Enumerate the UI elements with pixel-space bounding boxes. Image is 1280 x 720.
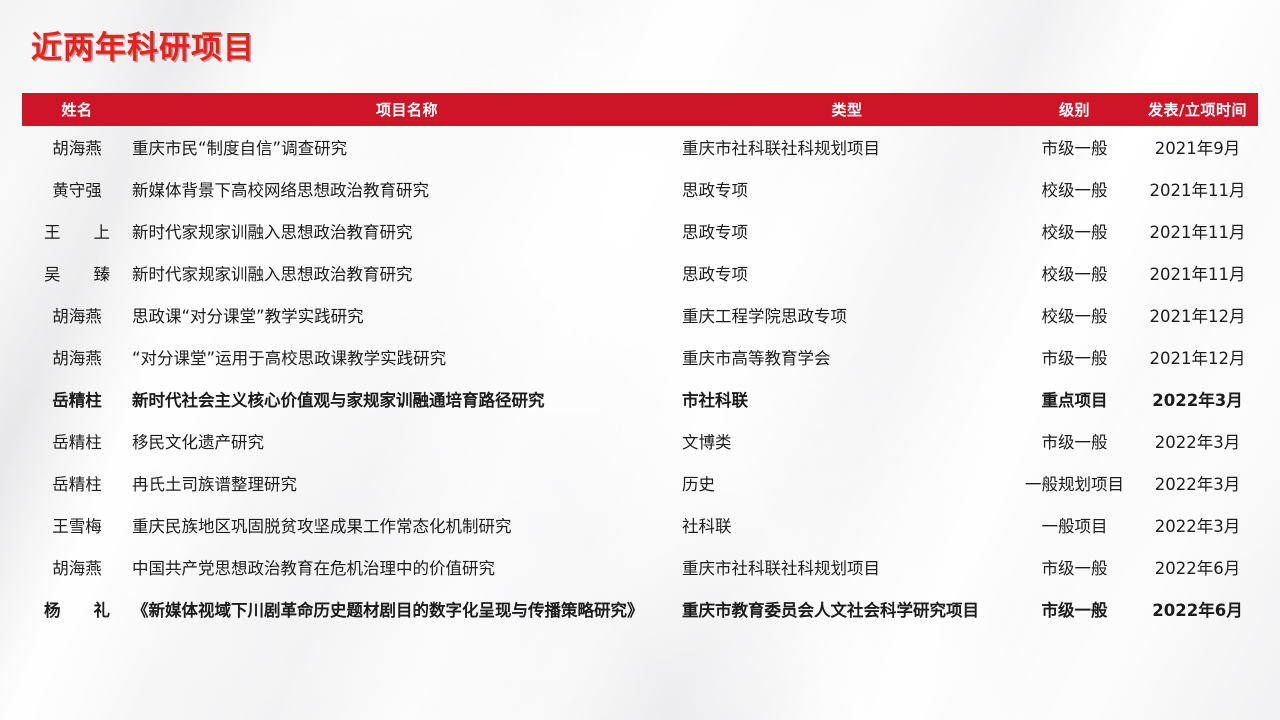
cell-project: 新时代家规家训融入思想政治教育研究 bbox=[132, 252, 682, 294]
page-title: 近两年科研项目 bbox=[31, 22, 255, 67]
cell-project: 重庆市民“制度自信”调查研究 bbox=[132, 126, 682, 168]
table-row: 王雪梅重庆民族地区巩固脱贫攻坚成果工作常态化机制研究社科联一般项目2022年3月 bbox=[22, 504, 1258, 546]
cell-date: 2021年11月 bbox=[1137, 168, 1258, 210]
cell-date: 2021年11月 bbox=[1137, 210, 1258, 252]
table-row: 胡海燕中国共产党思想政治教育在危机治理中的价值研究重庆市社科联社科规划项目市级一… bbox=[22, 546, 1258, 588]
cell-type: 重庆市高等教育学会 bbox=[682, 336, 1012, 378]
cell-project: 新媒体背景下高校网络思想政治教育研究 bbox=[132, 168, 682, 210]
cell-date: 2022年6月 bbox=[1137, 546, 1258, 588]
cell-level: 市级一般 bbox=[1012, 420, 1137, 462]
table-row: 岳精柱冉氏土司族谱整理研究历史一般规划项目2022年3月 bbox=[22, 462, 1258, 504]
table-row: 王 上新时代家规家训融入思想政治教育研究思政专项校级一般2021年11月 bbox=[22, 210, 1258, 252]
table-header-row: 姓名 项目名称 类型 级别 发表/立项时间 bbox=[22, 93, 1258, 126]
cell-name: 岳精柱 bbox=[22, 462, 132, 504]
table-row: 杨 礼《新媒体视域下川剧革命历史题材剧目的数字化呈现与传播策略研究》重庆市教育委… bbox=[22, 588, 1258, 630]
cell-name: 王 上 bbox=[22, 210, 132, 252]
cell-project: 中国共产党思想政治教育在危机治理中的价值研究 bbox=[132, 546, 682, 588]
cell-level: 一般项目 bbox=[1012, 504, 1137, 546]
cell-level: 校级一般 bbox=[1012, 210, 1137, 252]
column-header-project: 项目名称 bbox=[132, 93, 682, 126]
table-row: 吴 臻新时代家规家训融入思想政治教育研究思政专项校级一般2021年11月 bbox=[22, 252, 1258, 294]
cell-date: 2022年3月 bbox=[1137, 420, 1258, 462]
cell-type: 思政专项 bbox=[682, 252, 1012, 294]
cell-date: 2021年12月 bbox=[1137, 336, 1258, 378]
cell-date: 2022年3月 bbox=[1137, 378, 1258, 420]
table-row: 胡海燕重庆市民“制度自信”调查研究重庆市社科联社科规划项目市级一般2021年9月 bbox=[22, 126, 1258, 168]
cell-level: 市级一般 bbox=[1012, 588, 1137, 630]
table-row: 胡海燕思政课“对分课堂”教学实践研究重庆工程学院思政专项校级一般2021年12月 bbox=[22, 294, 1258, 336]
cell-type: 重庆市社科联社科规划项目 bbox=[682, 546, 1012, 588]
column-header-name: 姓名 bbox=[22, 93, 132, 126]
cell-name: 岳精柱 bbox=[22, 420, 132, 462]
cell-date: 2022年3月 bbox=[1137, 462, 1258, 504]
cell-project: 重庆民族地区巩固脱贫攻坚成果工作常态化机制研究 bbox=[132, 504, 682, 546]
cell-type: 思政专项 bbox=[682, 168, 1012, 210]
column-header-level: 级别 bbox=[1012, 93, 1137, 126]
cell-date: 2021年12月 bbox=[1137, 294, 1258, 336]
slide-canvas: 近两年科研项目 姓名 项目名称 类型 级别 发表/立项时间 胡海燕重庆市民“制度… bbox=[0, 0, 1280, 720]
column-header-date: 发表/立项时间 bbox=[1137, 93, 1258, 126]
research-projects-table: 姓名 项目名称 类型 级别 发表/立项时间 胡海燕重庆市民“制度自信”调查研究重… bbox=[22, 93, 1258, 630]
cell-project: 新时代家规家训融入思想政治教育研究 bbox=[132, 210, 682, 252]
cell-name: 吴 臻 bbox=[22, 252, 132, 294]
table-row: 岳精柱新时代社会主义核心价值观与家规家训融通培育路径研究市社科联重点项目2022… bbox=[22, 378, 1258, 420]
research-projects-table-container: 姓名 项目名称 类型 级别 发表/立项时间 胡海燕重庆市民“制度自信”调查研究重… bbox=[22, 93, 1258, 630]
cell-level: 市级一般 bbox=[1012, 126, 1137, 168]
cell-type: 社科联 bbox=[682, 504, 1012, 546]
cell-project: 思政课“对分课堂”教学实践研究 bbox=[132, 294, 682, 336]
cell-project: “对分课堂”运用于高校思政课教学实践研究 bbox=[132, 336, 682, 378]
cell-level: 校级一般 bbox=[1012, 252, 1137, 294]
cell-name: 胡海燕 bbox=[22, 126, 132, 168]
cell-level: 校级一般 bbox=[1012, 294, 1137, 336]
cell-level: 市级一般 bbox=[1012, 546, 1137, 588]
cell-date: 2021年11月 bbox=[1137, 252, 1258, 294]
cell-level: 校级一般 bbox=[1012, 168, 1137, 210]
cell-level: 重点项目 bbox=[1012, 378, 1137, 420]
table-header: 姓名 项目名称 类型 级别 发表/立项时间 bbox=[22, 93, 1258, 126]
cell-project: 冉氏土司族谱整理研究 bbox=[132, 462, 682, 504]
table-row: 岳精柱移民文化遗产研究文博类市级一般2022年3月 bbox=[22, 420, 1258, 462]
cell-project: 《新媒体视域下川剧革命历史题材剧目的数字化呈现与传播策略研究》 bbox=[132, 588, 682, 630]
column-header-type: 类型 bbox=[682, 93, 1012, 126]
cell-type: 思政专项 bbox=[682, 210, 1012, 252]
cell-project: 移民文化遗产研究 bbox=[132, 420, 682, 462]
cell-type: 重庆市教育委员会人文社会科学研究项目 bbox=[682, 588, 1012, 630]
cell-name: 胡海燕 bbox=[22, 336, 132, 378]
table-body: 胡海燕重庆市民“制度自信”调查研究重庆市社科联社科规划项目市级一般2021年9月… bbox=[22, 126, 1258, 630]
cell-name: 胡海燕 bbox=[22, 294, 132, 336]
cell-name: 王雪梅 bbox=[22, 504, 132, 546]
cell-type: 文博类 bbox=[682, 420, 1012, 462]
cell-name: 杨 礼 bbox=[22, 588, 132, 630]
cell-level: 市级一般 bbox=[1012, 336, 1137, 378]
table-row: 黄守强新媒体背景下高校网络思想政治教育研究思政专项校级一般2021年11月 bbox=[22, 168, 1258, 210]
cell-project: 新时代社会主义核心价值观与家规家训融通培育路径研究 bbox=[132, 378, 682, 420]
cell-name: 岳精柱 bbox=[22, 378, 132, 420]
cell-type: 市社科联 bbox=[682, 378, 1012, 420]
cell-level: 一般规划项目 bbox=[1012, 462, 1137, 504]
table-row: 胡海燕“对分课堂”运用于高校思政课教学实践研究重庆市高等教育学会市级一般2021… bbox=[22, 336, 1258, 378]
cell-type: 历史 bbox=[682, 462, 1012, 504]
cell-name: 胡海燕 bbox=[22, 546, 132, 588]
cell-name: 黄守强 bbox=[22, 168, 132, 210]
cell-date: 2022年6月 bbox=[1137, 588, 1258, 630]
cell-date: 2022年3月 bbox=[1137, 504, 1258, 546]
cell-date: 2021年9月 bbox=[1137, 126, 1258, 168]
cell-type: 重庆工程学院思政专项 bbox=[682, 294, 1012, 336]
cell-type: 重庆市社科联社科规划项目 bbox=[682, 126, 1012, 168]
